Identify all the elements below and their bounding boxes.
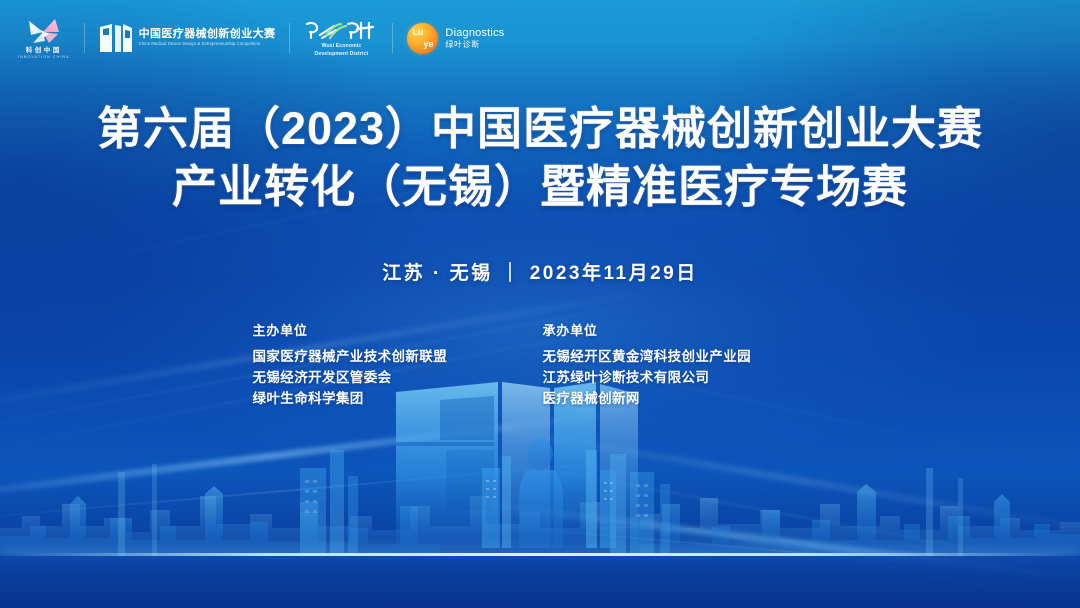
logo-innovation-china[interactable]: 科创中国 INNOVATION CHINA: [18, 16, 70, 60]
open-door-icon: [99, 22, 133, 54]
host-item: 无锡经济开发区管委会: [253, 367, 543, 388]
ground-reflection: [0, 556, 1080, 608]
logo-cmdc[interactable]: 中国医疗器械创新创业大赛 China Medical Device Design…: [99, 22, 276, 54]
event-poster: 科创中国 INNOVATION CHINA 中国医疗器械创新创业大赛 China…: [0, 0, 1080, 608]
coorganizer-column: 承办单位 无锡经开区黄金湾科技创业产业园 江苏绿叶诊断技术有限公司 医疗器械创新…: [543, 320, 833, 409]
calligraphy-icon: [304, 19, 378, 41]
logo-wuxi-edd-en2: Development District: [314, 51, 368, 58]
page-title: 第六届（2023）中国医疗器械创新创业大赛 产业转化（无锡）暨精准医疗专场赛: [0, 100, 1080, 216]
title-line-1: 第六届（2023）中国医疗器械创新创业大赛: [0, 100, 1080, 158]
event-date-location: 江苏 · 无锡 ｜ 2023年11月29日: [0, 258, 1080, 285]
organizer-section: 主办单位 国家医疗器械产业技术创新联盟 无锡经济开发区管委会 绿叶生命科学集团 …: [0, 320, 1080, 409]
logo-luye-en: Diagnostics: [445, 28, 504, 39]
host-item: 国家医疗器械产业技术创新联盟: [253, 346, 543, 367]
logo-bar: 科创中国 INNOVATION CHINA 中国医疗器械创新创业大赛 China…: [18, 14, 504, 62]
title-line-2: 产业转化（无锡）暨精准医疗专场赛: [0, 158, 1080, 216]
coorganizer-item: 江苏绿叶诊断技术有限公司: [543, 367, 833, 388]
host-heading: 主办单位: [253, 320, 543, 339]
logo-cmdc-en: China Medical Device Design & Entreprene…: [139, 42, 276, 46]
logo-innovation-china-en: INNOVATION CHINA: [18, 56, 70, 60]
logo-luye-cn: 绿叶诊断: [445, 41, 504, 49]
logo-divider: [392, 23, 393, 53]
luye-badge-top: Lu: [412, 28, 423, 37]
logo-cmdc-cn: 中国医疗器械创新创业大赛: [139, 29, 276, 40]
coorganizer-heading: 承办单位: [543, 320, 833, 339]
butterfly-icon: [25, 16, 63, 46]
logo-wuxi-edd-en1: Wuxi Economic: [322, 43, 362, 50]
logo-innovation-china-cn: 科创中国: [26, 48, 62, 55]
logo-cmdc-text: 中国医疗器械创新创业大赛 China Medical Device Design…: [139, 29, 276, 46]
luye-badge-bottom: ye: [423, 40, 433, 49]
host-column: 主办单位 国家医疗器械产业技术创新联盟 无锡经济开发区管委会 绿叶生命科学集团: [248, 320, 543, 409]
logo-divider: [289, 23, 290, 53]
luye-circle-icon: Lu ye: [407, 23, 438, 54]
logo-wuxi-edd[interactable]: Wuxi Economic Development District: [304, 19, 378, 58]
logo-luye-text: Diagnostics 绿叶诊断: [445, 28, 504, 49]
logo-divider: [84, 23, 85, 53]
host-item: 绿叶生命科学集团: [253, 388, 543, 409]
logo-luye-diagnostics[interactable]: Lu ye Diagnostics 绿叶诊断: [407, 23, 504, 54]
coorganizer-item: 无锡经开区黄金湾科技创业产业园: [543, 346, 833, 367]
coorganizer-item: 医疗器械创新网: [543, 388, 833, 409]
